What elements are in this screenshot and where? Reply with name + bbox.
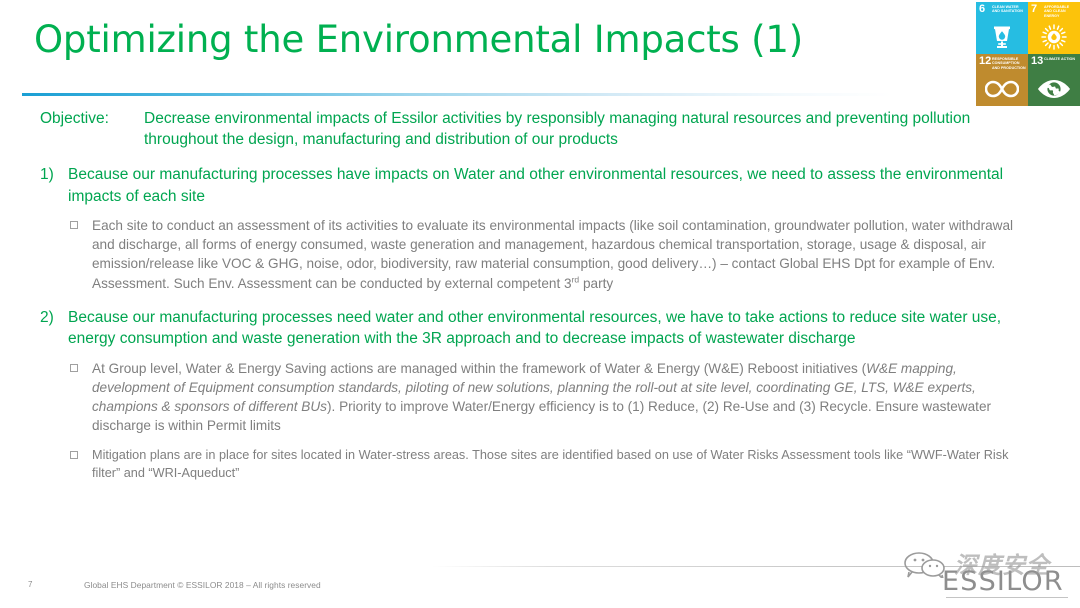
sdg-badge-6: 6 Clean Water and Sanitation bbox=[976, 2, 1028, 54]
sdg-label: Responsible Consumption and Production bbox=[992, 57, 1026, 70]
logo-underline bbox=[946, 597, 1068, 598]
sub-bullet-list-2: At Group level, Water & Energy Saving ac… bbox=[0, 359, 1080, 483]
objective-block: Objective: Decrease environmental impact… bbox=[0, 108, 1080, 150]
sdg-badge-12: 12 Responsible Consumption and Productio… bbox=[976, 54, 1028, 106]
sun-icon bbox=[1028, 22, 1080, 52]
sdg-badge-grid: 6 Clean Water and Sanitation 7 Affordabl… bbox=[976, 2, 1080, 106]
objective-text: Decrease environmental impacts of Essilo… bbox=[144, 108, 1040, 150]
hollow-square-bullet-icon bbox=[70, 216, 92, 236]
wechat-icon bbox=[900, 552, 954, 578]
numbered-point-1: 1) Because our manufacturing processes h… bbox=[0, 164, 1080, 207]
point-marker: 1) bbox=[40, 164, 68, 186]
footer-copyright: Global EHS Department © ESSILOR 2018 – A… bbox=[84, 580, 321, 590]
sdg-badge-13: 13 Climate Action bbox=[1028, 54, 1080, 106]
point-heading: Because our manufacturing processes need… bbox=[68, 307, 1032, 350]
sdg-number: 7 bbox=[1031, 4, 1037, 15]
slide: Optimizing the Environmental Impacts (1)… bbox=[0, 0, 1080, 608]
water-glass-icon bbox=[976, 22, 1028, 52]
list-item: At Group level, Water & Energy Saving ac… bbox=[0, 359, 1080, 436]
sdg-badge-7: 7 Affordable and Clean Energy bbox=[1028, 2, 1080, 54]
watermark-text: 深度安全 bbox=[954, 546, 1050, 580]
sdg-number: 6 bbox=[979, 4, 985, 15]
hollow-square-bullet-icon bbox=[70, 446, 92, 466]
hollow-square-bullet-icon bbox=[70, 359, 92, 379]
sdg-number: 12 bbox=[979, 56, 991, 67]
numbered-point-2: 2) Because our manufacturing processes n… bbox=[0, 307, 1080, 350]
infinity-icon bbox=[976, 74, 1028, 104]
sub-bullet-list-1: Each site to conduct an assessment of it… bbox=[0, 216, 1080, 293]
sdg-label: Affordable and Clean Energy bbox=[1044, 5, 1078, 18]
sdg-label: Clean Water and Sanitation bbox=[992, 5, 1026, 14]
page-number: 7 bbox=[28, 580, 32, 589]
list-item: Mitigation plans are in place for sites … bbox=[0, 446, 1080, 483]
list-item-text: Each site to conduct an assessment of it… bbox=[92, 216, 1032, 293]
title-divider bbox=[22, 93, 892, 96]
objective-label: Objective: bbox=[40, 108, 144, 129]
point-heading: Because our manufacturing processes have… bbox=[68, 164, 1032, 207]
slide-body: Objective: Decrease environmental impact… bbox=[0, 108, 1080, 489]
list-item-text: Mitigation plans are in place for sites … bbox=[92, 446, 1032, 483]
point-marker: 2) bbox=[40, 307, 68, 329]
sdg-number: 13 bbox=[1031, 56, 1043, 67]
list-item-text: At Group level, Water & Energy Saving ac… bbox=[92, 359, 1032, 436]
page-title: Optimizing the Environmental Impacts (1) bbox=[34, 18, 803, 61]
logo-block: ESSILOR 深度安全 bbox=[900, 552, 1070, 600]
eye-globe-icon bbox=[1028, 74, 1080, 104]
list-item: Each site to conduct an assessment of it… bbox=[0, 216, 1080, 293]
sdg-label: Climate Action bbox=[1044, 57, 1078, 61]
